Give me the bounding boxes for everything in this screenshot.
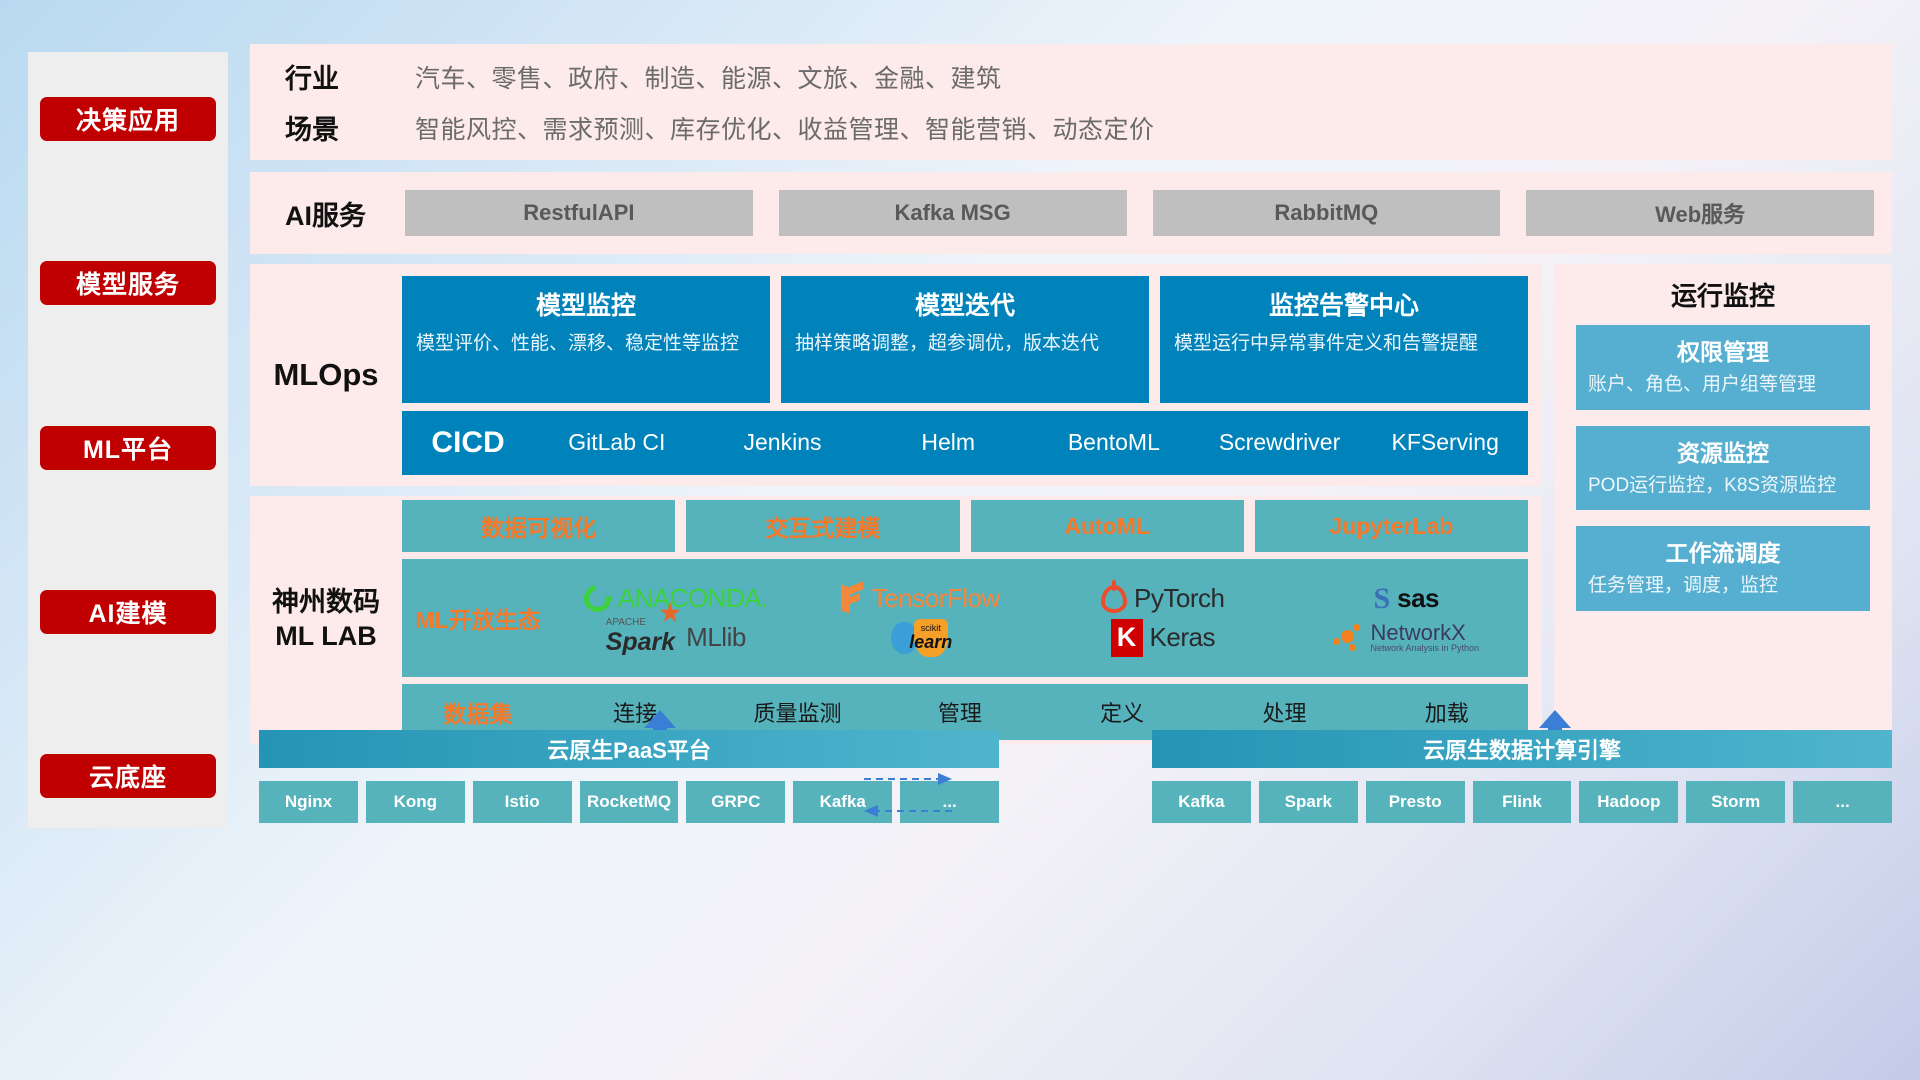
engine-chip-flink[interactable]: Flink (1473, 781, 1572, 823)
engine-chip-storm[interactable]: Storm (1686, 781, 1785, 823)
tool-automl[interactable]: AutoML (971, 500, 1244, 552)
ml-ecosystem-label: ML开放生态 (402, 601, 554, 635)
card-title: 权限管理 (1588, 333, 1858, 367)
card-title: 监控告警中心 (1174, 286, 1514, 322)
pytorch-flame-icon (1101, 585, 1127, 613)
paas-chip-istio[interactable]: Istio (473, 781, 572, 823)
mlops-card-model-iteration[interactable]: 模型迭代 抽样策略调整，超参调优，版本迭代 (781, 276, 1149, 403)
dataset-item-manage[interactable]: 管理 (879, 696, 1041, 728)
scenario-value: 智能风控、需求预测、库存优化、收益管理、智能营销、动态定价 (415, 110, 1155, 146)
ml-ecosystem-row: ML开放生态 ANACONDA. TensorFlow (402, 559, 1528, 677)
spark-mllib-logo: APACHE Spark MLlib (554, 618, 798, 657)
layer-rail: 决策应用 模型服务 ML平台 AI建模 云底座 (28, 52, 228, 828)
dataset-label: 数据集 (402, 695, 554, 729)
card-desc: POD运行监控，K8S资源监控 (1588, 474, 1858, 499)
sas-logo: S sas (1285, 582, 1529, 616)
ai-service-chip-list: RestfulAPI Kafka MSG RabbitMQ Web服务 (405, 190, 1874, 236)
engine-chip-kafka[interactable]: Kafka (1152, 781, 1251, 823)
cicd-item-screwdriver[interactable]: Screwdriver (1197, 430, 1363, 454)
cicd-bar: CICD GitLab CI Jenkins Helm BentoML Scre… (402, 411, 1528, 475)
ml-lab-content: 数据可视化 交互式建模 AutoML JupyterLab ML开放生态 ANA… (402, 500, 1528, 740)
ml-ecosystem-logo-grid: ANACONDA. TensorFlow PyTorch (554, 579, 1528, 657)
cicd-item-jenkins[interactable]: Jenkins (700, 430, 866, 454)
data-engine-chip-list: Kafka Spark Presto Flink Hadoop Storm ..… (1152, 781, 1892, 823)
engine-chip-spark[interactable]: Spark (1259, 781, 1358, 823)
keras-wordmark: Keras (1150, 622, 1215, 653)
data-engine-group: 云原生数据计算引擎 Kafka Spark Presto Flink Hadoo… (1152, 730, 1892, 823)
scenario-label: 场景 (285, 108, 415, 147)
industry-row: 行业 汽车、零售、政府、制造、能源、文旅、金融、建筑 (285, 57, 1892, 96)
networkx-tagline: Network Analysis in Python (1370, 644, 1479, 653)
ai-service-chip-web[interactable]: Web服务 (1526, 190, 1874, 236)
tool-interactive-modeling[interactable]: 交互式建模 (686, 500, 959, 552)
paas-chip-nginx[interactable]: Nginx (259, 781, 358, 823)
rail-item-ai-modeling[interactable]: AI建模 (40, 590, 216, 634)
paas-chip-rocketmq[interactable]: RocketMQ (580, 781, 679, 823)
runtime-monitor-panel: 运行监控 权限管理 账户、角色、用户组等管理 资源监控 POD运行监控，K8S资… (1554, 264, 1892, 744)
cicd-item-list: GitLab CI Jenkins Helm BentoML Screwdriv… (534, 430, 1528, 454)
ai-service-chip-rabbitmq[interactable]: RabbitMQ (1153, 190, 1501, 236)
rail-label: 决策应用 (76, 101, 180, 137)
rail-label: AI建模 (88, 594, 167, 630)
mlops-card-list: 模型监控 模型评价、性能、漂移、稳定性等监控 模型迭代 抽样策略调整，超参调优，… (402, 276, 1528, 403)
tensorflow-mark-icon (839, 584, 865, 614)
dataset-item-connect[interactable]: 连接 (554, 696, 716, 728)
card-desc: 抽样策略调整，超参调优，版本迭代 (795, 331, 1135, 357)
tensorflow-wordmark: TensorFlow (872, 583, 1000, 614)
bidirectional-link-icon (862, 765, 954, 825)
engine-chip-hadoop[interactable]: Hadoop (1579, 781, 1678, 823)
dataset-item-process[interactable]: 处理 (1203, 696, 1365, 728)
networkx-graph-icon (1333, 624, 1363, 652)
tensorflow-logo: TensorFlow (798, 583, 1042, 614)
pytorch-logo: PyTorch (1041, 583, 1285, 614)
rail-item-cloud-foundation[interactable]: 云底座 (40, 754, 216, 798)
scenario-row: 场景 智能风控、需求预测、库存优化、收益管理、智能营销、动态定价 (285, 108, 1892, 147)
anaconda-wordmark: ANACONDA. (618, 583, 768, 614)
dataset-item-list: 连接 质量监测 管理 定义 处理 加载 (554, 696, 1528, 728)
mlops-card-model-monitoring[interactable]: 模型监控 模型评价、性能、漂移、稳定性等监控 (402, 276, 770, 403)
rail-item-model-service[interactable]: 模型服务 (40, 261, 216, 305)
monitor-card-permission[interactable]: 权限管理 账户、角色、用户组等管理 (1576, 325, 1870, 410)
ai-service-chip-restfulapi[interactable]: RestfulAPI (405, 190, 753, 236)
runtime-monitor-title: 运行监控 (1576, 276, 1870, 313)
scikit-learn-logo: scikit learn (798, 619, 1042, 657)
cicd-item-helm[interactable]: Helm (865, 430, 1031, 454)
engine-chip-presto[interactable]: Presto (1366, 781, 1465, 823)
engine-chip-more[interactable]: ... (1793, 781, 1892, 823)
card-desc: 模型运行中异常事件定义和告警提醒 (1174, 331, 1514, 357)
sas-wordmark: sas (1397, 583, 1439, 614)
networkx-logo: NetworkX Network Analysis in Python (1285, 622, 1529, 653)
spark-mark: APACHE Spark (606, 618, 679, 657)
networkx-text: NetworkX Network Analysis in Python (1370, 622, 1479, 653)
card-title: 模型监控 (416, 286, 756, 322)
sklearn-wordmark: learn (909, 633, 952, 651)
cicd-item-gitlab-ci[interactable]: GitLab CI (534, 430, 700, 454)
card-title: 模型迭代 (795, 286, 1135, 322)
rail-label: 模型服务 (76, 265, 180, 301)
paas-chip-grpc[interactable]: GRPC (686, 781, 785, 823)
dataset-item-load[interactable]: 加载 (1366, 696, 1528, 728)
ml-lab-label: 神州数码 ML LAB (250, 586, 402, 654)
pytorch-wordmark: PyTorch (1134, 583, 1224, 614)
ai-service-band: AI服务 RestfulAPI Kafka MSG RabbitMQ Web服务 (250, 172, 1892, 254)
anaconda-ring-icon (578, 580, 616, 618)
mllib-wordmark: MLlib (686, 622, 746, 653)
cloud-foundation-layer: 云原生PaaS平台 Nginx Kong Istio RocketMQ GRPC… (250, 730, 1892, 850)
card-desc: 模型评价、性能、漂移、稳定性等监控 (416, 331, 756, 357)
ai-service-label: AI服务 (285, 194, 405, 233)
mlops-card-alert-center[interactable]: 监控告警中心 模型运行中异常事件定义和告警提醒 (1160, 276, 1528, 403)
keras-logo: K Keras (1041, 619, 1285, 657)
keras-mark-icon: K (1111, 619, 1143, 657)
paas-header: 云原生PaaS平台 (259, 730, 999, 768)
networkx-wordmark: NetworkX (1370, 622, 1479, 644)
ml-lab-band: 神州数码 ML LAB 数据可视化 交互式建模 AutoML JupyterLa… (250, 496, 1542, 744)
monitor-card-resource[interactable]: 资源监控 POD运行监控，K8S资源监控 (1576, 426, 1870, 511)
ai-service-chip-kafka-msg[interactable]: Kafka MSG (779, 190, 1127, 236)
mlops-label: MLOps (250, 357, 402, 393)
rail-label: 云底座 (89, 758, 167, 794)
tool-data-visualization[interactable]: 数据可视化 (402, 500, 675, 552)
monitor-card-workflow[interactable]: 工作流调度 任务管理，调度，监控 (1576, 526, 1870, 611)
card-desc: 账户、角色、用户组等管理 (1588, 373, 1858, 398)
rail-label: ML平台 (83, 430, 173, 466)
ml-lab-label-line2: ML LAB (250, 620, 402, 654)
ml-lab-label-line1: 神州数码 (250, 586, 402, 620)
data-engine-header: 云原生数据计算引擎 (1152, 730, 1892, 768)
tool-jupyterlab[interactable]: JupyterLab (1255, 500, 1528, 552)
spark-wordmark: Spark (606, 628, 675, 656)
card-desc: 任务管理，调度，监控 (1588, 574, 1858, 599)
architecture-main: 行业 汽车、零售、政府、制造、能源、文旅、金融、建筑 场景 智能风控、需求预测、… (250, 44, 1892, 836)
cicd-title: CICD (402, 426, 534, 460)
cicd-item-kfserving[interactable]: KFServing (1362, 430, 1528, 454)
sklearn-badge-icon: scikit learn (914, 619, 948, 657)
anaconda-logo: ANACONDA. (554, 583, 798, 614)
sas-swirl-icon: S (1373, 582, 1390, 616)
card-title: 工作流调度 (1588, 534, 1858, 568)
rail-item-ml-platform[interactable]: ML平台 (40, 426, 216, 470)
cicd-item-bentoml[interactable]: BentoML (1031, 430, 1197, 454)
industry-label: 行业 (285, 57, 415, 96)
mlops-band: MLOps 模型监控 模型评价、性能、漂移、稳定性等监控 模型迭代 抽样策略调整… (250, 264, 1542, 486)
dataset-item-quality-monitoring[interactable]: 质量监测 (716, 696, 878, 728)
paas-chip-kong[interactable]: Kong (366, 781, 465, 823)
rail-item-decision-application[interactable]: 决策应用 (40, 97, 216, 141)
dataset-item-define[interactable]: 定义 (1041, 696, 1203, 728)
industry-value: 汽车、零售、政府、制造、能源、文旅、金融、建筑 (415, 59, 1002, 95)
card-title: 资源监控 (1588, 434, 1858, 468)
ml-lab-tool-list: 数据可视化 交互式建模 AutoML JupyterLab (402, 500, 1528, 552)
mlops-content: 模型监控 模型评价、性能、漂移、稳定性等监控 模型迭代 抽样策略调整，超参调优，… (402, 276, 1528, 475)
industry-scenario-band: 行业 汽车、零售、政府、制造、能源、文旅、金融、建筑 场景 智能风控、需求预测、… (250, 44, 1892, 160)
